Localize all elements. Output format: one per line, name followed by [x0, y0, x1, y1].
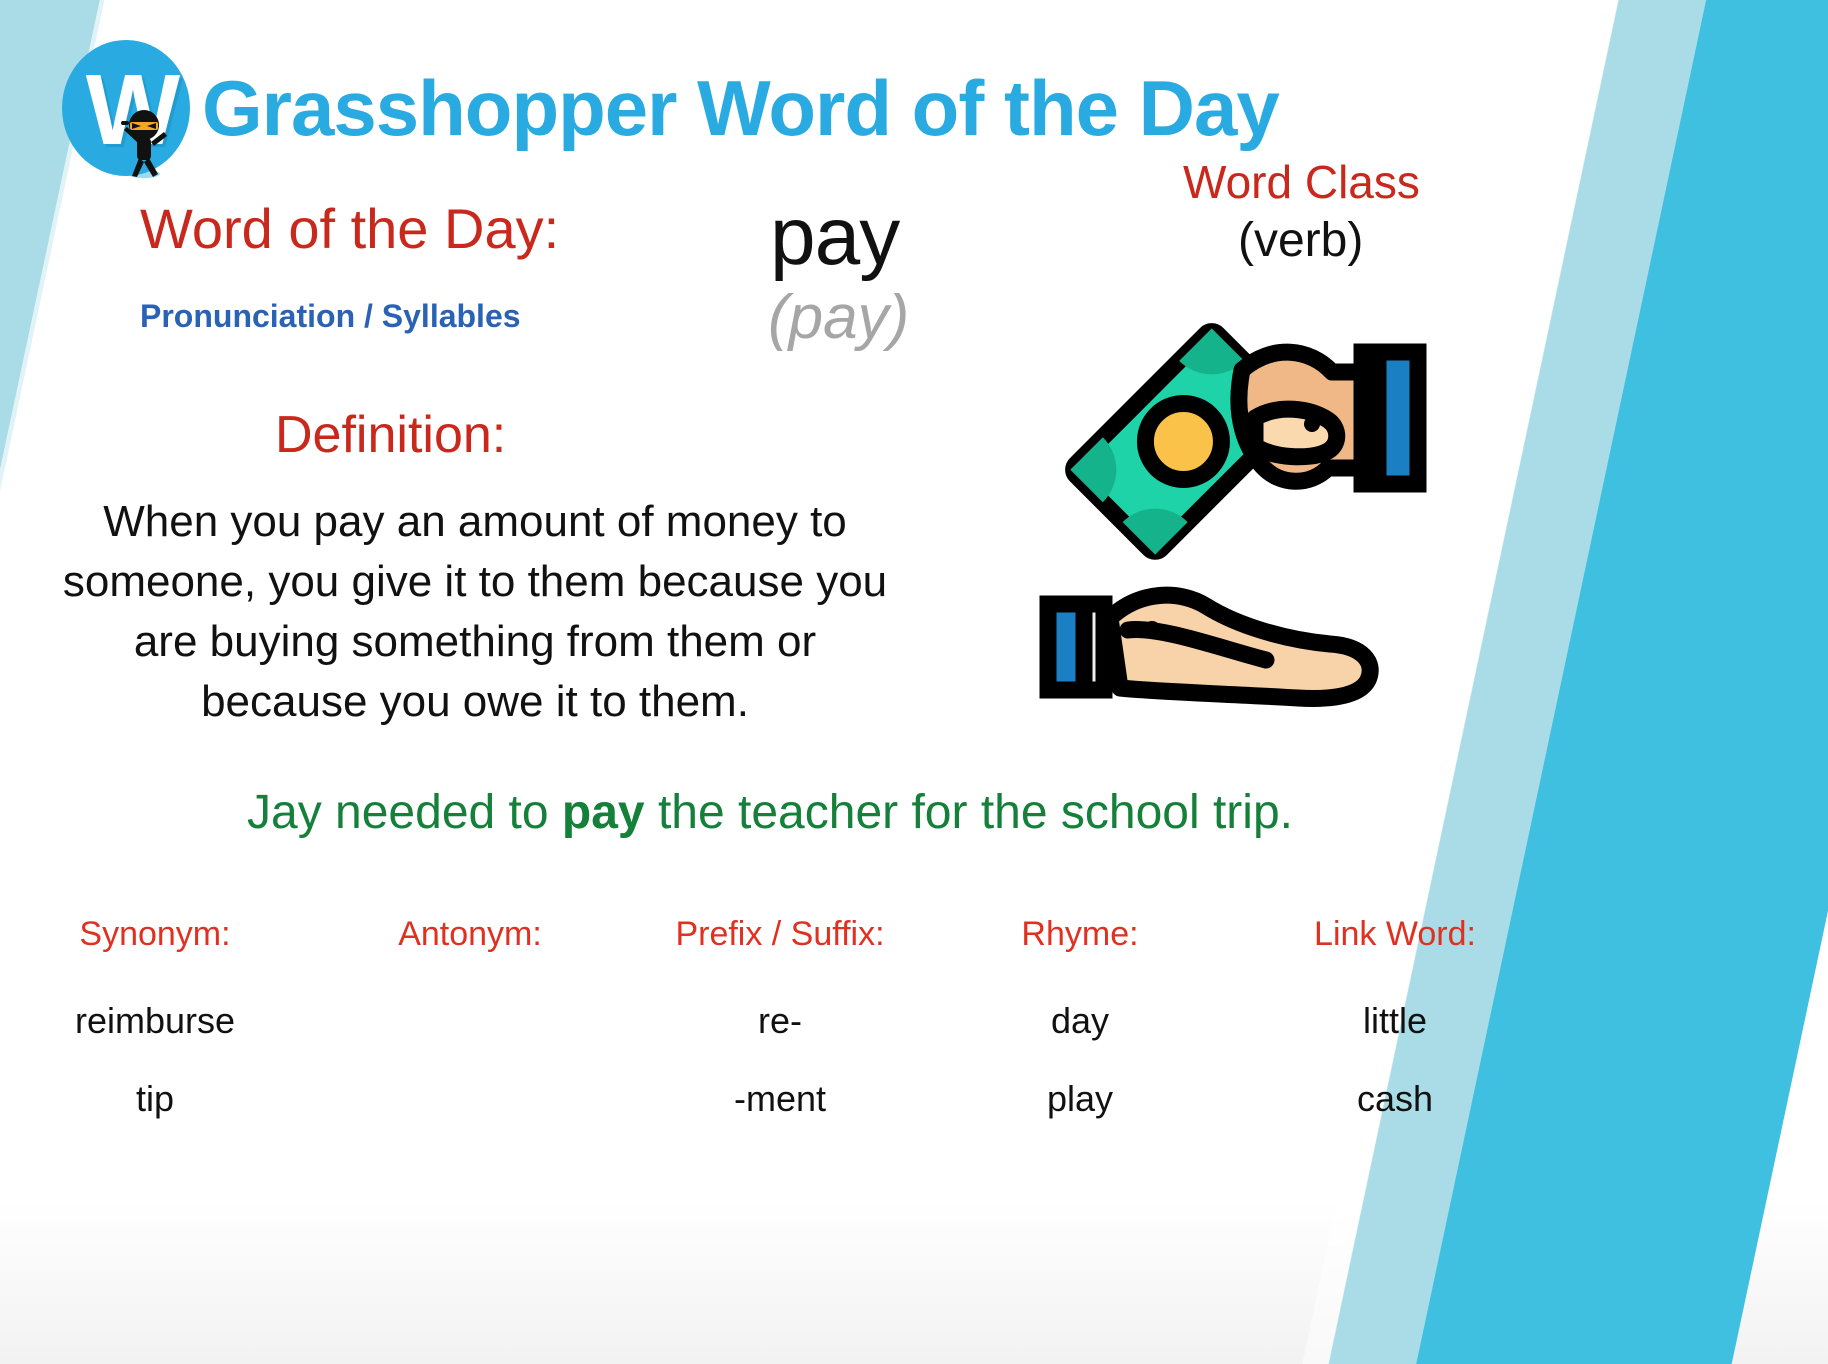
ninja-mascot-icon — [118, 108, 170, 178]
sentence-before: Jay needed to — [247, 786, 562, 839]
cell-synonym-1: reimburse — [0, 1000, 310, 1078]
table-header-rhyme: Rhyme: — [930, 915, 1230, 1000]
money-exchange-illustration — [1010, 300, 1440, 720]
cell-rhyme-1: day — [930, 1000, 1230, 1078]
cell-antonym-2 — [310, 1078, 630, 1156]
cell-link-word-1: little — [1230, 1000, 1560, 1078]
sentence-after: the teacher for the school trip. — [645, 786, 1293, 839]
cell-prefix-suffix-2: -ment — [630, 1078, 930, 1156]
hand-holding-banknote-icon — [1239, 352, 1418, 484]
word-of-day-label: Word of the Day: — [140, 196, 559, 261]
word-detail-table: Synonym: Antonym: Prefix / Suffix: Rhyme… — [0, 915, 1560, 1145]
word-phonetic-value: (pay) — [768, 282, 909, 353]
definition-label: Definition: — [275, 405, 506, 465]
word-class-label: Word Class — [1183, 155, 1420, 209]
table-header-synonym: Synonym: — [0, 915, 310, 1000]
page-header: W Grasshopper Word of the Day — [56, 28, 1828, 188]
pronunciation-label: Pronunciation / Syllables — [140, 298, 521, 335]
word-of-day-value: pay — [770, 190, 899, 284]
cell-rhyme-2: play — [930, 1078, 1230, 1156]
sentence-highlight: pay — [562, 786, 645, 839]
cell-synonym-2: tip — [0, 1078, 310, 1156]
example-sentence: Jay needed to pay the teacher for the sc… — [60, 785, 1480, 840]
cell-antonym-1 — [310, 1000, 630, 1078]
page-title: Grasshopper Word of the Day — [202, 63, 1279, 153]
table-row: tip -ment play cash — [0, 1078, 1560, 1156]
table-header-row: Synonym: Antonym: Prefix / Suffix: Rhyme… — [0, 915, 1560, 1000]
open-receiving-hand-icon — [1048, 595, 1370, 698]
table-header-link-word: Link Word: — [1230, 915, 1560, 1000]
word-class-value: (verb) — [1238, 213, 1363, 268]
slide-canvas: W Grasshopper Word of the Day Word of th… — [0, 0, 1828, 1364]
cell-prefix-suffix-1: re- — [630, 1000, 930, 1078]
brand-logo: W — [56, 34, 196, 182]
table-header-antonym: Antonym: — [310, 915, 630, 1000]
cell-link-word-2: cash — [1230, 1078, 1560, 1156]
definition-text: When you pay an amount of money to someo… — [60, 492, 890, 732]
table-row: reimburse re- day little — [0, 1000, 1560, 1078]
table-header-prefix-suffix: Prefix / Suffix: — [630, 915, 930, 1000]
